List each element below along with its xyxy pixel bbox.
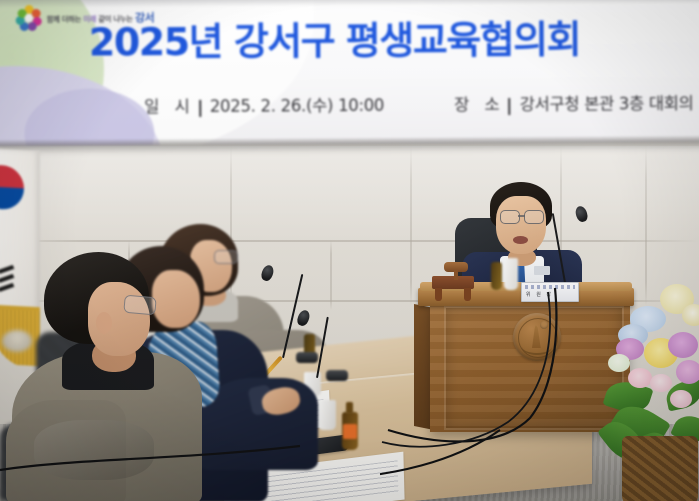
banner-field-place-label: 장 소 — [454, 91, 505, 115]
flower-arrangement — [604, 286, 699, 501]
banner-subline: 일 시 2025. 2. 26.(수) 10:00 장 소 강서구청 본관 3층… — [144, 90, 699, 117]
banner-separator-2 — [509, 98, 511, 115]
gangseo-gu-seal-icon — [513, 313, 561, 361]
eyeglass-bridge — [518, 215, 525, 217]
eyeglasses-p1 — [123, 295, 156, 316]
lapel-badge — [534, 266, 550, 275]
beverage-bottle-podium — [491, 262, 502, 290]
logo-slogan-part1: 함께 더하는 — [47, 15, 81, 24]
flower-pinwheel-logo-icon — [16, 5, 42, 31]
water-bottle-left — [318, 400, 336, 430]
eyeglass-lens-right — [524, 210, 544, 224]
flower-basket — [622, 436, 698, 501]
microphone-base-1 — [296, 352, 318, 363]
taeguk-red-half — [0, 164, 24, 188]
gavel — [444, 262, 468, 278]
flag-stand — [2, 330, 32, 352]
nameplate-text: 위 원 장 — [526, 291, 574, 298]
event-photograph: 함께 더하는 미래 같이 나누는 강서 2025년 강서구 평생교육협의회 일 … — [0, 0, 699, 501]
bottle-neck — [346, 402, 353, 414]
mouth — [513, 236, 528, 244]
taeguk-blue-half — [0, 186, 24, 210]
banner-field-date-value: 2025. 2. 26.(수) 10:00 — [210, 92, 384, 117]
nameplate: 위 원 장 — [521, 282, 579, 302]
banner-separator-1 — [199, 99, 201, 116]
banner-title: 2025년 강서구 평생교육협의회 — [89, 20, 699, 62]
banner-field-place-value: 강서구청 본관 3층 대회의 — [520, 90, 694, 115]
eyeglass-lens-left — [500, 210, 520, 224]
banner-field-date-label: 일 시 — [144, 93, 195, 117]
beverage-bottle-front — [342, 412, 358, 450]
microphone-base-2 — [326, 370, 348, 381]
event-banner: 함께 더하는 미래 같이 나누는 강서 2025년 강서구 평생교육협의회 일 … — [0, 0, 699, 146]
water-bottle-podium — [504, 258, 518, 290]
eyeglasses-p3 — [214, 250, 238, 264]
